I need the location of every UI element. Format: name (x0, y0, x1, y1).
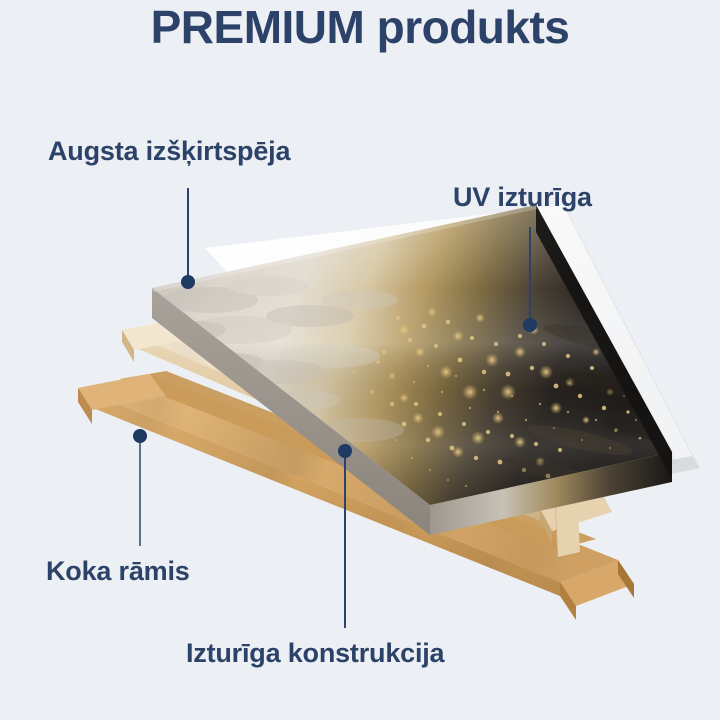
feature-label-uv: UV izturīga (453, 182, 592, 213)
feature-label-resolution: Augsta izšķirtspēja (48, 136, 290, 167)
feature-label-construction: Izturīga konstrukcija (186, 638, 444, 669)
feature-label-wood-frame: Koka rāmis (46, 556, 190, 587)
exploded-view-illustration (0, 0, 720, 720)
callout-wood-frame (133, 429, 147, 546)
callout-resolution (181, 188, 195, 289)
product-infographic: PREMIUM produkts Augsta izšķirtspēja UV … (0, 0, 720, 720)
